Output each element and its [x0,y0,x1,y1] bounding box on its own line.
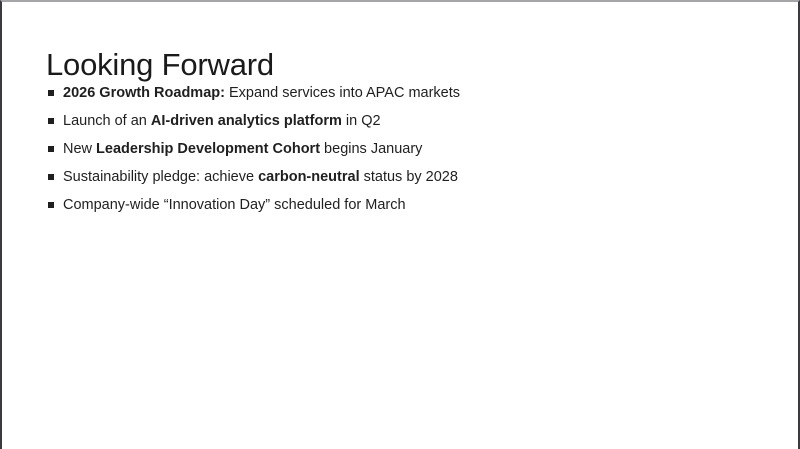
list-item-label: 2026 Growth Roadmap: Expand services int… [63,85,460,101]
square-bullet-icon [48,202,54,208]
list-item-label: New Leadership Development Cohort begins… [63,141,422,157]
square-bullet-icon [48,118,54,124]
bullet-list: 2026 Growth Roadmap: Expand services int… [48,79,460,219]
list-item-label: Sustainability pledge: achieve carbon-ne… [63,169,458,185]
square-bullet-icon [48,146,54,152]
square-bullet-icon [48,174,54,180]
list-item-label: Company-wide “Innovation Day” scheduled … [63,197,406,213]
list-item: Company-wide “Innovation Day” scheduled … [48,191,460,219]
list-item: Launch of an AI-driven analytics platfor… [48,107,460,135]
square-bullet-icon [48,90,54,96]
list-item: Sustainability pledge: achieve carbon-ne… [48,163,460,191]
presentation-slide: Looking Forward 2026 Growth Roadmap: Exp… [0,0,800,449]
list-item: 2026 Growth Roadmap: Expand services int… [48,79,460,107]
list-item-label: Launch of an AI-driven analytics platfor… [63,113,381,129]
list-item: New Leadership Development Cohort begins… [48,135,460,163]
